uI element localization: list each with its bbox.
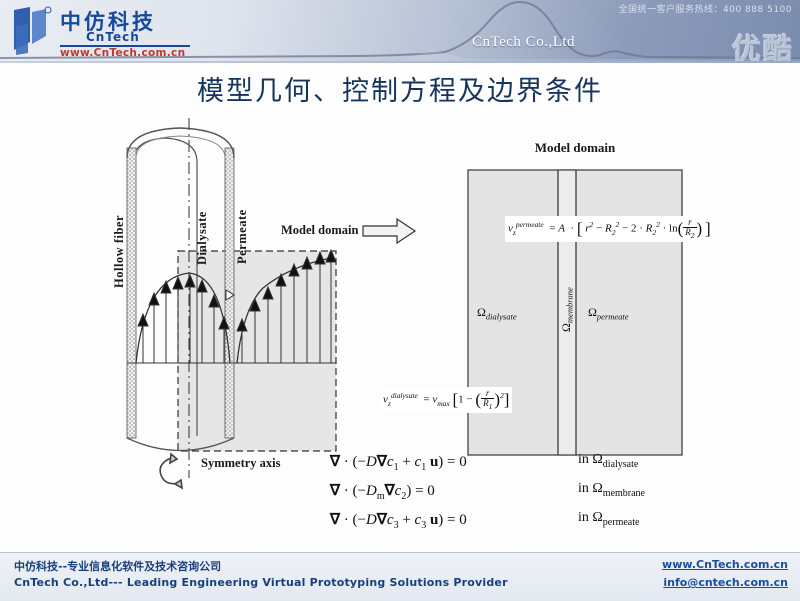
omega-symbol-membrane: Ω xyxy=(559,323,573,332)
region-label-permeate: Ωpermeate xyxy=(588,305,629,321)
logo-website: www.CnTech.com.cn xyxy=(60,47,185,59)
service-hotline: 全国统一客户服务热线：400 888 5100 xyxy=(619,2,792,15)
omega-sub-membrane: membrane xyxy=(564,287,574,323)
slide-canvas: 中仿科技 CnTech www.CnTech.com.cn 全国统一客户服务热线… xyxy=(0,0,800,600)
footer-website-link[interactable]: www.CnTech.com.cn xyxy=(662,558,788,571)
governing-eq-2-rhs: in Ωmembrane xyxy=(578,481,645,499)
governing-eq-2-lhs: ∇ · (−Dm∇c2) = 0 xyxy=(330,481,435,502)
label-hollow-fiber: Hollow fiber xyxy=(112,158,127,288)
governing-eq-3-lhs: ∇ · (−D∇c3 + c3 u) = 0 xyxy=(330,510,467,531)
omega-sub-permeate: permeate xyxy=(597,311,629,321)
footer-company-en: CnTech Co.,Ltd--- Leading Engineering Vi… xyxy=(14,576,508,589)
slide-header: 中仿科技 CnTech www.CnTech.com.cn 全国统一客户服务热线… xyxy=(0,0,800,63)
gov-2-omega: Ω xyxy=(592,481,602,496)
gov-3-omega: Ω xyxy=(592,510,602,525)
right-arrow-icon xyxy=(363,219,415,243)
governing-eq-3-rhs: in Ωpermeate xyxy=(578,510,639,528)
gov-3-sub: permeate xyxy=(603,517,640,528)
gov-1-omega: Ω xyxy=(592,452,602,467)
model-domain-diagram: Model domain Ωdialysate Ωmembrane Ωperme… xyxy=(455,140,695,465)
region-label-dialysate: Ωdialysate xyxy=(477,305,517,321)
gov-1-prefix: in xyxy=(578,452,592,467)
gov-1-sub: dialysate xyxy=(603,459,639,470)
logo-company-abbr: CnTech xyxy=(86,30,140,44)
governing-equation-row: ∇ · (−Dm∇c2) = 0 in Ωmembrane xyxy=(330,481,700,510)
governing-equation-row: ∇ · (−D∇c1 + c1 u) = 0 in Ωdialysate xyxy=(330,452,700,481)
gov-2-prefix: in xyxy=(578,481,592,496)
region-label-membrane: Ωmembrane xyxy=(559,260,574,332)
hollow-fiber-svg xyxy=(85,118,430,493)
footer-email-link[interactable]: info@cntech.com.cn xyxy=(663,576,788,589)
label-symmetry-axis: Symmetry axis xyxy=(201,456,281,471)
label-permeate: Permeate xyxy=(235,164,250,264)
eq-permeate-superscript: permeate xyxy=(516,220,544,229)
cntech-logo-icon xyxy=(8,6,54,56)
header-company-name: CnTech Co.,Ltd xyxy=(472,34,575,51)
governing-eq-1-lhs: ∇ · (−D∇c1 + c1 u) = 0 xyxy=(330,452,467,473)
equation-dialysate-velocity: vzdialysate = vmax [1 − (rR1)2] xyxy=(380,387,512,413)
page-title: 模型几何、控制方程及边界条件 xyxy=(0,69,800,108)
omega-symbol-permeate: Ω xyxy=(588,305,597,319)
footer-company-cn: 中仿科技--专业信息化软件及技术咨询公司 xyxy=(14,558,221,574)
governing-equations: ∇ · (−D∇c1 + c1 u) = 0 in Ωdialysate ∇ ·… xyxy=(330,452,700,539)
hollow-fiber-diagram: Hollow fiber Dialysate Permeate Model do… xyxy=(85,118,430,493)
model-domain-svg xyxy=(455,140,695,465)
governing-equation-row: ∇ · (−D∇c3 + c3 u) = 0 in Ωpermeate xyxy=(330,510,700,539)
rotation-axis-icon xyxy=(160,454,182,488)
equation-permeate-velocity: vzpermeate = A · [ r2 − R22 − 2 · R22 · … xyxy=(505,216,714,242)
label-model-domain-left: Model domain xyxy=(281,223,358,238)
gov-3-prefix: in xyxy=(578,510,592,525)
fiber-wall-left xyxy=(127,148,136,438)
slide-footer: 中仿科技--专业信息化软件及技术咨询公司 CnTech Co.,Ltd--- L… xyxy=(0,552,800,601)
governing-eq-1-rhs: in Ωdialysate xyxy=(578,452,638,470)
omega-symbol-dialysate: Ω xyxy=(477,305,486,319)
omega-sub-dialysate: dialysate xyxy=(486,311,517,321)
label-dialysate: Dialysate xyxy=(195,160,210,265)
eq-dialysate-superscript: dialysate xyxy=(391,391,418,400)
gov-2-sub: membrane xyxy=(603,488,645,499)
eq-permeate-coefficient: A xyxy=(558,223,565,235)
youku-watermark: 优酷 xyxy=(732,26,794,63)
header-bottom-rule xyxy=(0,61,800,63)
cntech-logo: 中仿科技 CnTech www.CnTech.com.cn xyxy=(8,4,198,62)
